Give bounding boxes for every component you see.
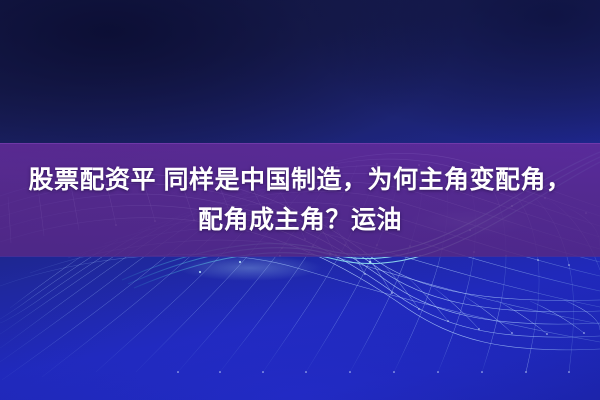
headline-line-1: 股票配资平 同样是中国制造，为何主角变配角， (0, 160, 600, 200)
promo-banner: 股票配资平 同样是中国制造，为何主角变配角， 配角成主角？运油 (0, 0, 600, 400)
banner-headline: 股票配资平 同样是中国制造，为何主角变配角， 配角成主角？运油 (0, 160, 600, 240)
band-top-edge (0, 143, 600, 144)
headline-line-2: 配角成主角？运油 (0, 200, 600, 240)
band-bottom-edge (0, 256, 600, 257)
